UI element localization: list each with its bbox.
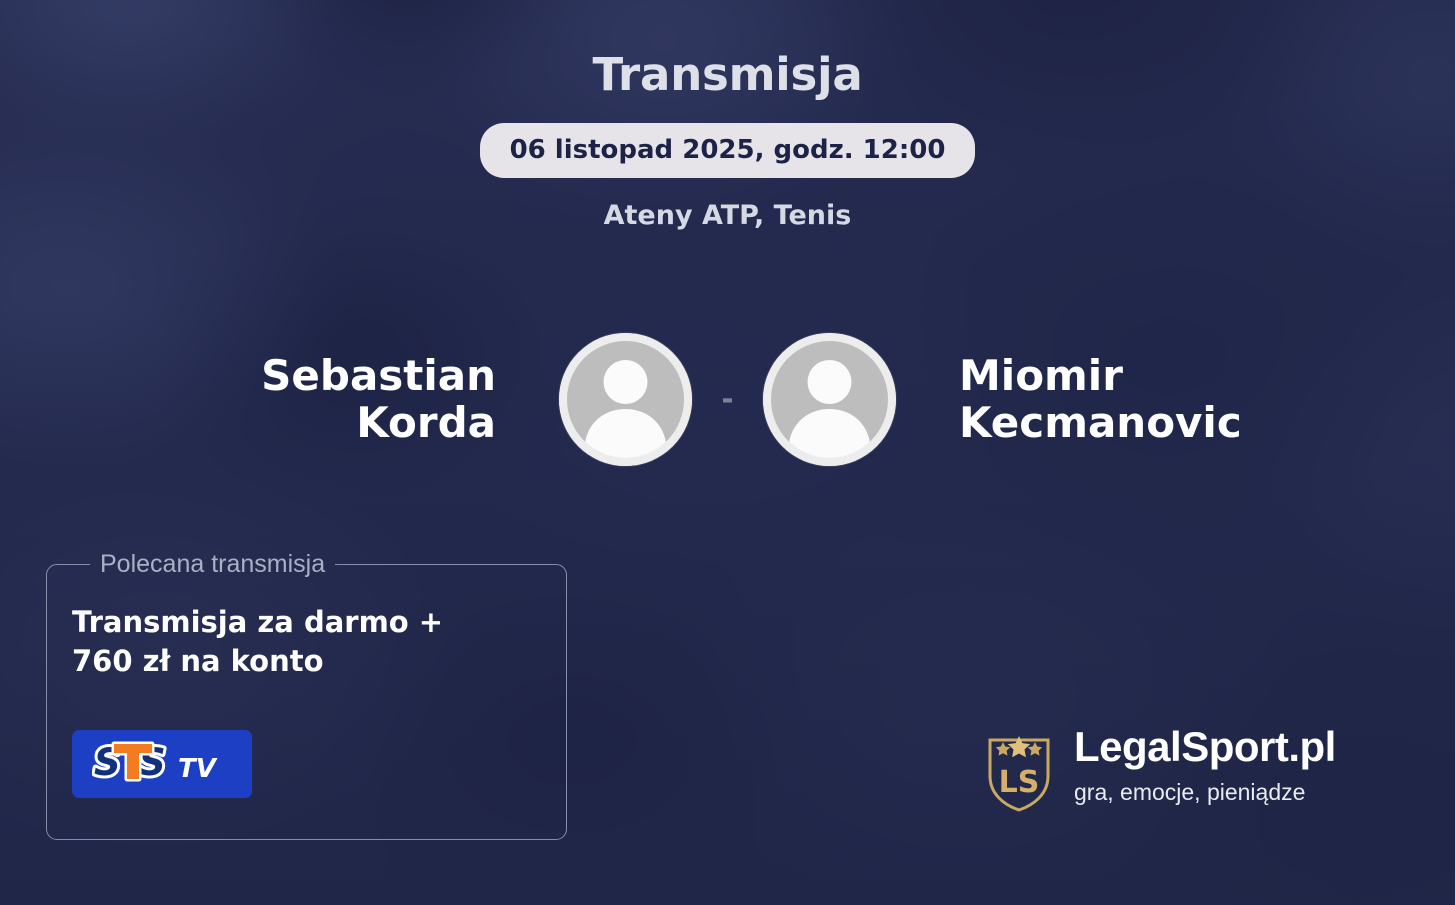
home-player-name: Sebastian Korda [107, 352, 559, 446]
person-placeholder-icon [763, 333, 896, 466]
match-row: Sebastian Korda - [0, 308, 1455, 490]
recommended-broadcast-legend: Polecana transmisja [90, 552, 335, 577]
brand-name: LegalSport.pl [1074, 726, 1336, 768]
person-placeholder-icon [559, 333, 692, 466]
broadcast-promo-card: Transmisja 06 listopad 2025, godz. 12:00… [0, 0, 1455, 905]
recommended-broadcast-card[interactable]: Polecana transmisja Transmisja za darmo … [46, 552, 567, 840]
brand-tagline: gra, emocje, pieniądze [1074, 781, 1336, 804]
header: Transmisja 06 listopad 2025, godz. 12:00… [0, 0, 1455, 229]
ls-shield-icon: LS [986, 730, 1052, 814]
match-datetime-badge: 06 listopad 2025, godz. 12:00 [480, 123, 976, 178]
svg-text:TV: TV [178, 754, 218, 784]
away-player-name: Miomir Kecmanovic [896, 352, 1348, 446]
promo-headline: Transmisja za darmo + 760 zł na konto [72, 603, 502, 680]
sts-tv-logo[interactable]: S S S S TV [72, 730, 252, 798]
event-subtitle: Ateny ATP, Tenis [0, 202, 1455, 229]
score-separator: - [692, 385, 763, 414]
legalsport-brand[interactable]: LS LegalSport.pl gra, emocje, pieniądze [986, 726, 1336, 814]
svg-text:LS: LS [999, 765, 1040, 800]
home-player: Sebastian Korda [107, 333, 692, 466]
away-player: Miomir Kecmanovic [763, 333, 1348, 466]
page-title: Transmisja [0, 52, 1455, 97]
